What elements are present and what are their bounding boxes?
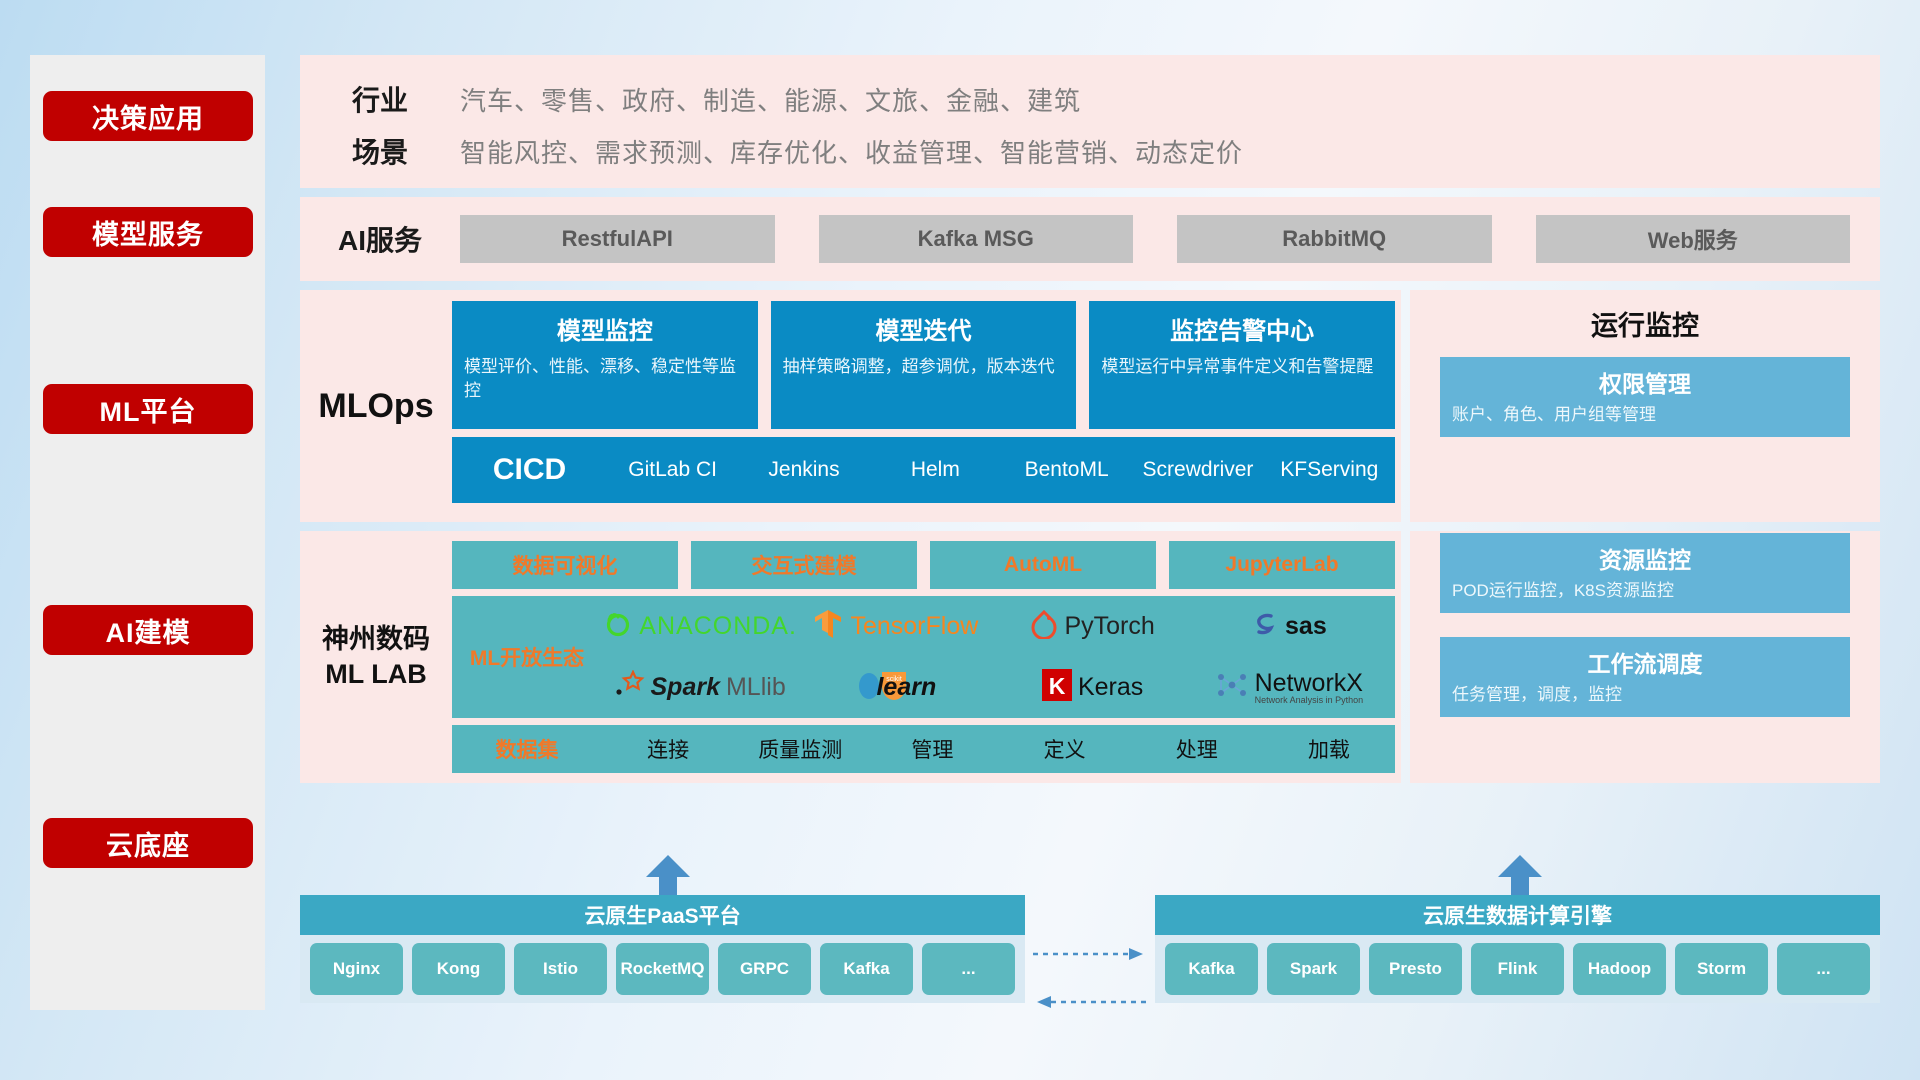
cloud-data-engine-block: 云原生数据计算引擎 Kafka Spark Presto Flink Hadoo… xyxy=(1155,895,1880,1003)
left-rail: 决策应用 模型服务 ML平台 AI建模 云底座 xyxy=(30,55,265,1010)
scenario-values: 智能风控、需求预测、库存优化、收益管理、智能营销、动态定价 xyxy=(460,133,1243,170)
dataset-row: 数据集 连接 质量监测 管理 定义 处理 加载 xyxy=(452,725,1395,773)
card-desc: 模型运行中异常事件定义和告警提醒 xyxy=(1101,355,1383,379)
chip-presto[interactable]: Presto xyxy=(1369,943,1462,995)
cicd-item-bentoml[interactable]: BentoML xyxy=(1001,459,1132,481)
rail-label: AI建模 xyxy=(106,611,191,650)
rail-item-cloud-base[interactable]: 云底座 xyxy=(43,818,253,868)
mlops-label: MLOps xyxy=(300,301,452,511)
cicd-item-gitlab-ci[interactable]: GitLab CI xyxy=(607,459,738,481)
dataset-item-load[interactable]: 加载 xyxy=(1263,734,1395,764)
arrow-left-dashed xyxy=(1033,995,1147,1009)
rail-label: 云底座 xyxy=(106,824,190,863)
dataset-items: 连接 质量监测 管理 定义 处理 加载 xyxy=(602,734,1395,764)
ai-service-kafka-msg[interactable]: Kafka MSG xyxy=(819,215,1134,263)
logo-keras[interactable]: K Keras xyxy=(1042,669,1143,706)
cicd-bar: CICD GitLab CI Jenkins Helm BentoML Scre… xyxy=(452,437,1395,503)
tab-automl[interactable]: AutoML xyxy=(930,541,1156,589)
chip-storm[interactable]: Storm xyxy=(1675,943,1768,995)
chip-istio[interactable]: Istio xyxy=(514,943,607,995)
logo-pytorch[interactable]: PyTorch xyxy=(1030,609,1154,644)
logo-label: Keras xyxy=(1078,673,1143,702)
dataset-item-quality[interactable]: 质量监测 xyxy=(734,734,866,764)
chip-flink[interactable]: Flink xyxy=(1471,943,1564,995)
tab-data-visualization[interactable]: 数据可视化 xyxy=(452,541,678,589)
ai-services-band: AI服务 RestfulAPI Kafka MSG RabbitMQ Web服务 xyxy=(300,197,1880,281)
logo-label: sas xyxy=(1285,612,1327,641)
industry-values: 汽车、零售、政府、制造、能源、文旅、金融、建筑 xyxy=(460,81,1081,118)
card-title: 模型迭代 xyxy=(783,311,1065,346)
dataset-label: 数据集 xyxy=(452,734,602,764)
cicd-item-screwdriver[interactable]: Screwdriver xyxy=(1132,459,1263,481)
logo-label: ANACONDA. xyxy=(639,612,797,641)
main-column: 行业 汽车、零售、政府、制造、能源、文旅、金融、建筑 场景 智能风控、需求预测、… xyxy=(300,55,1880,783)
ml-lab-label-line2: ML LAB xyxy=(325,657,427,692)
chip-more-de[interactable]: ... xyxy=(1777,943,1870,995)
chip-kafka-de[interactable]: Kafka xyxy=(1165,943,1258,995)
logo-scikit-learn[interactable]: scikit learn xyxy=(856,667,936,708)
ai-service-restful-api[interactable]: RestfulAPI xyxy=(460,215,775,263)
chip-kong[interactable]: Kong xyxy=(412,943,505,995)
card-title: 监控告警中心 xyxy=(1101,311,1383,346)
cicd-item-helm[interactable]: Helm xyxy=(870,459,1001,481)
monitor-panel-bottom: 资源监控 POD运行监控，K8S资源监控 工作流调度 任务管理，调度，监控 xyxy=(1410,531,1880,783)
logo-tensorflow[interactable]: TensorFlow xyxy=(814,608,978,645)
monitor-card-workflow[interactable]: 工作流调度 任务管理，调度，监控 xyxy=(1440,637,1850,717)
cloud-base-section: 云原生PaaS平台 Nginx Kong Istio RocketMQ GRPC… xyxy=(300,895,1880,1003)
pytorch-icon xyxy=(1030,609,1058,644)
svg-text:K: K xyxy=(1049,673,1066,699)
ml-lab-content: 数据可视化 交互式建模 AutoML JupyterLab ML开放生态 ANA… xyxy=(452,541,1401,773)
card-desc: 账户、角色、用户组等管理 xyxy=(1452,404,1838,427)
rail-item-ml-platform[interactable]: ML平台 xyxy=(43,384,253,434)
logo-label: NetworkX xyxy=(1255,671,1364,696)
rail-label: 决策应用 xyxy=(92,97,204,136)
card-title: 资源监控 xyxy=(1452,541,1838,575)
scenario-label: 场景 xyxy=(300,131,460,171)
logo-label: TensorFlow xyxy=(850,612,978,641)
rail-label: ML平台 xyxy=(100,390,197,429)
cicd-item-kfserving[interactable]: KFServing xyxy=(1264,459,1395,481)
cloud-paas-chips: Nginx Kong Istio RocketMQ GRPC Kafka ... xyxy=(300,935,1025,1003)
logo-label: learn xyxy=(876,673,936,702)
industry-row: 行业 汽车、零售、政府、制造、能源、文旅、金融、建筑 xyxy=(300,73,1880,125)
monitor-panel-title: 运行监控 xyxy=(1440,304,1850,343)
mlops-card-alert-center[interactable]: 监控告警中心 模型运行中异常事件定义和告警提醒 xyxy=(1089,301,1395,429)
mlops-row: MLOps 模型监控 模型评价、性能、漂移、稳定性等监控 模型迭代 抽样策略调整… xyxy=(300,290,1880,522)
chip-nginx[interactable]: Nginx xyxy=(310,943,403,995)
cloud-paas-block: 云原生PaaS平台 Nginx Kong Istio RocketMQ GRPC… xyxy=(300,895,1025,1003)
chip-more[interactable]: ... xyxy=(922,943,1015,995)
ai-services-label: AI服务 xyxy=(300,219,460,259)
industry-label: 行业 xyxy=(300,79,460,119)
spark-icon xyxy=(615,670,645,705)
card-desc: POD运行监控，K8S资源监控 xyxy=(1452,580,1838,603)
keras-icon: K xyxy=(1042,669,1072,706)
mlops-band: MLOps 模型监控 模型评价、性能、漂移、稳定性等监控 模型迭代 抽样策略调整… xyxy=(300,290,1401,522)
logo-prefix: Spark xyxy=(651,673,720,702)
ai-service-rabbitmq[interactable]: RabbitMQ xyxy=(1177,215,1492,263)
chip-grpc[interactable]: GRPC xyxy=(718,943,811,995)
cloud-data-engine-title: 云原生数据计算引擎 xyxy=(1155,895,1880,935)
mlops-card-model-iteration[interactable]: 模型迭代 抽样策略调整，超参调优，版本迭代 xyxy=(771,301,1077,429)
logo-label: PyTorch xyxy=(1064,612,1154,641)
cloud-paas-title: 云原生PaaS平台 xyxy=(300,895,1025,935)
applications-band: 行业 汽车、零售、政府、制造、能源、文旅、金融、建筑 场景 智能风控、需求预测、… xyxy=(300,55,1880,188)
ml-ecosystem-label: ML开放生态 xyxy=(452,596,602,718)
dataset-item-process[interactable]: 处理 xyxy=(1131,734,1263,764)
mlops-card-model-monitoring[interactable]: 模型监控 模型评价、性能、漂移、稳定性等监控 xyxy=(452,301,758,429)
cicd-item-jenkins[interactable]: Jenkins xyxy=(738,459,869,481)
mlops-content: 模型监控 模型评价、性能、漂移、稳定性等监控 模型迭代 抽样策略调整，超参调优，… xyxy=(452,301,1401,511)
monitor-card-permission[interactable]: 权限管理 账户、角色、用户组等管理 xyxy=(1440,357,1850,437)
dataset-item-define[interactable]: 定义 xyxy=(999,734,1131,764)
monitor-card-resource[interactable]: 资源监控 POD运行监控，K8S资源监控 xyxy=(1440,533,1850,613)
card-desc: 模型评价、性能、漂移、稳定性等监控 xyxy=(464,355,746,403)
rail-item-ai-modeling[interactable]: AI建模 xyxy=(43,605,253,655)
ml-lab-tabs: 数据可视化 交互式建模 AutoML JupyterLab xyxy=(452,541,1395,589)
chip-spark[interactable]: Spark xyxy=(1267,943,1360,995)
arrow-right-dashed xyxy=(1033,947,1147,961)
ml-lab-band: 神州数码 ML LAB 数据可视化 交互式建模 AutoML JupyterLa… xyxy=(300,531,1401,783)
cloud-data-engine-chips: Kafka Spark Presto Flink Hadoop Storm ..… xyxy=(1155,935,1880,1003)
logo-label: MLlib xyxy=(726,673,786,702)
chip-hadoop[interactable]: Hadoop xyxy=(1573,943,1666,995)
logo-sublabel: Network Analysis in Python xyxy=(1255,696,1364,705)
dataset-item-manage[interactable]: 管理 xyxy=(866,734,998,764)
cicd-items: GitLab CI Jenkins Helm BentoML Screwdriv… xyxy=(607,459,1395,481)
card-title: 模型监控 xyxy=(464,311,746,346)
logo-anaconda[interactable]: ANACONDA. xyxy=(603,609,797,644)
ml-lab-label: 神州数码 ML LAB xyxy=(300,541,452,773)
ml-lab-label-line1: 神州数码 xyxy=(322,622,430,657)
monitor-panel-top: 运行监控 权限管理 账户、角色、用户组等管理 xyxy=(1410,290,1880,522)
cicd-label: CICD xyxy=(452,453,607,487)
rail-label: 模型服务 xyxy=(92,213,204,252)
rail-item-decision-apps[interactable]: 决策应用 xyxy=(43,91,253,141)
card-desc: 抽样策略调整，超参调优，版本迭代 xyxy=(783,355,1065,379)
card-title: 工作流调度 xyxy=(1452,645,1838,679)
mlops-cards: 模型监控 模型评价、性能、漂移、稳定性等监控 模型迭代 抽样策略调整，超参调优，… xyxy=(452,301,1395,429)
tab-jupyterlab[interactable]: JupyterLab xyxy=(1169,541,1395,589)
dataset-item-connect[interactable]: 连接 xyxy=(602,734,734,764)
ml-ecosystem-logos: ANACONDA. TensorFlow PyT xyxy=(602,596,1395,718)
tab-interactive-modeling[interactable]: 交互式建模 xyxy=(691,541,917,589)
logo-spark-mllib[interactable]: Spark MLlib xyxy=(615,670,786,705)
logo-sas[interactable]: sas xyxy=(1251,610,1327,643)
card-desc: 任务管理，调度，监控 xyxy=(1452,684,1838,707)
tensorflow-icon xyxy=(814,608,844,645)
ai-service-web[interactable]: Web服务 xyxy=(1536,215,1851,263)
logo-networkx[interactable]: NetworkX Network Analysis in Python xyxy=(1215,669,1364,706)
card-title: 权限管理 xyxy=(1452,365,1838,399)
rail-item-model-service[interactable]: 模型服务 xyxy=(43,207,253,257)
cloud-connector xyxy=(1025,895,1155,1003)
anaconda-icon xyxy=(603,609,633,644)
ml-lab-row: 神州数码 ML LAB 数据可视化 交互式建模 AutoML JupyterLa… xyxy=(300,531,1880,783)
chip-rocketmq[interactable]: RocketMQ xyxy=(616,943,709,995)
chip-kafka[interactable]: Kafka xyxy=(820,943,913,995)
scenario-row: 场景 智能风控、需求预测、库存优化、收益管理、智能营销、动态定价 xyxy=(300,125,1880,177)
networkx-icon xyxy=(1215,669,1249,706)
ml-ecosystem-row: ML开放生态 ANACONDA. TensorFlo xyxy=(452,596,1395,718)
ai-services-list: RestfulAPI Kafka MSG RabbitMQ Web服务 xyxy=(460,215,1880,263)
sas-icon xyxy=(1251,610,1279,643)
